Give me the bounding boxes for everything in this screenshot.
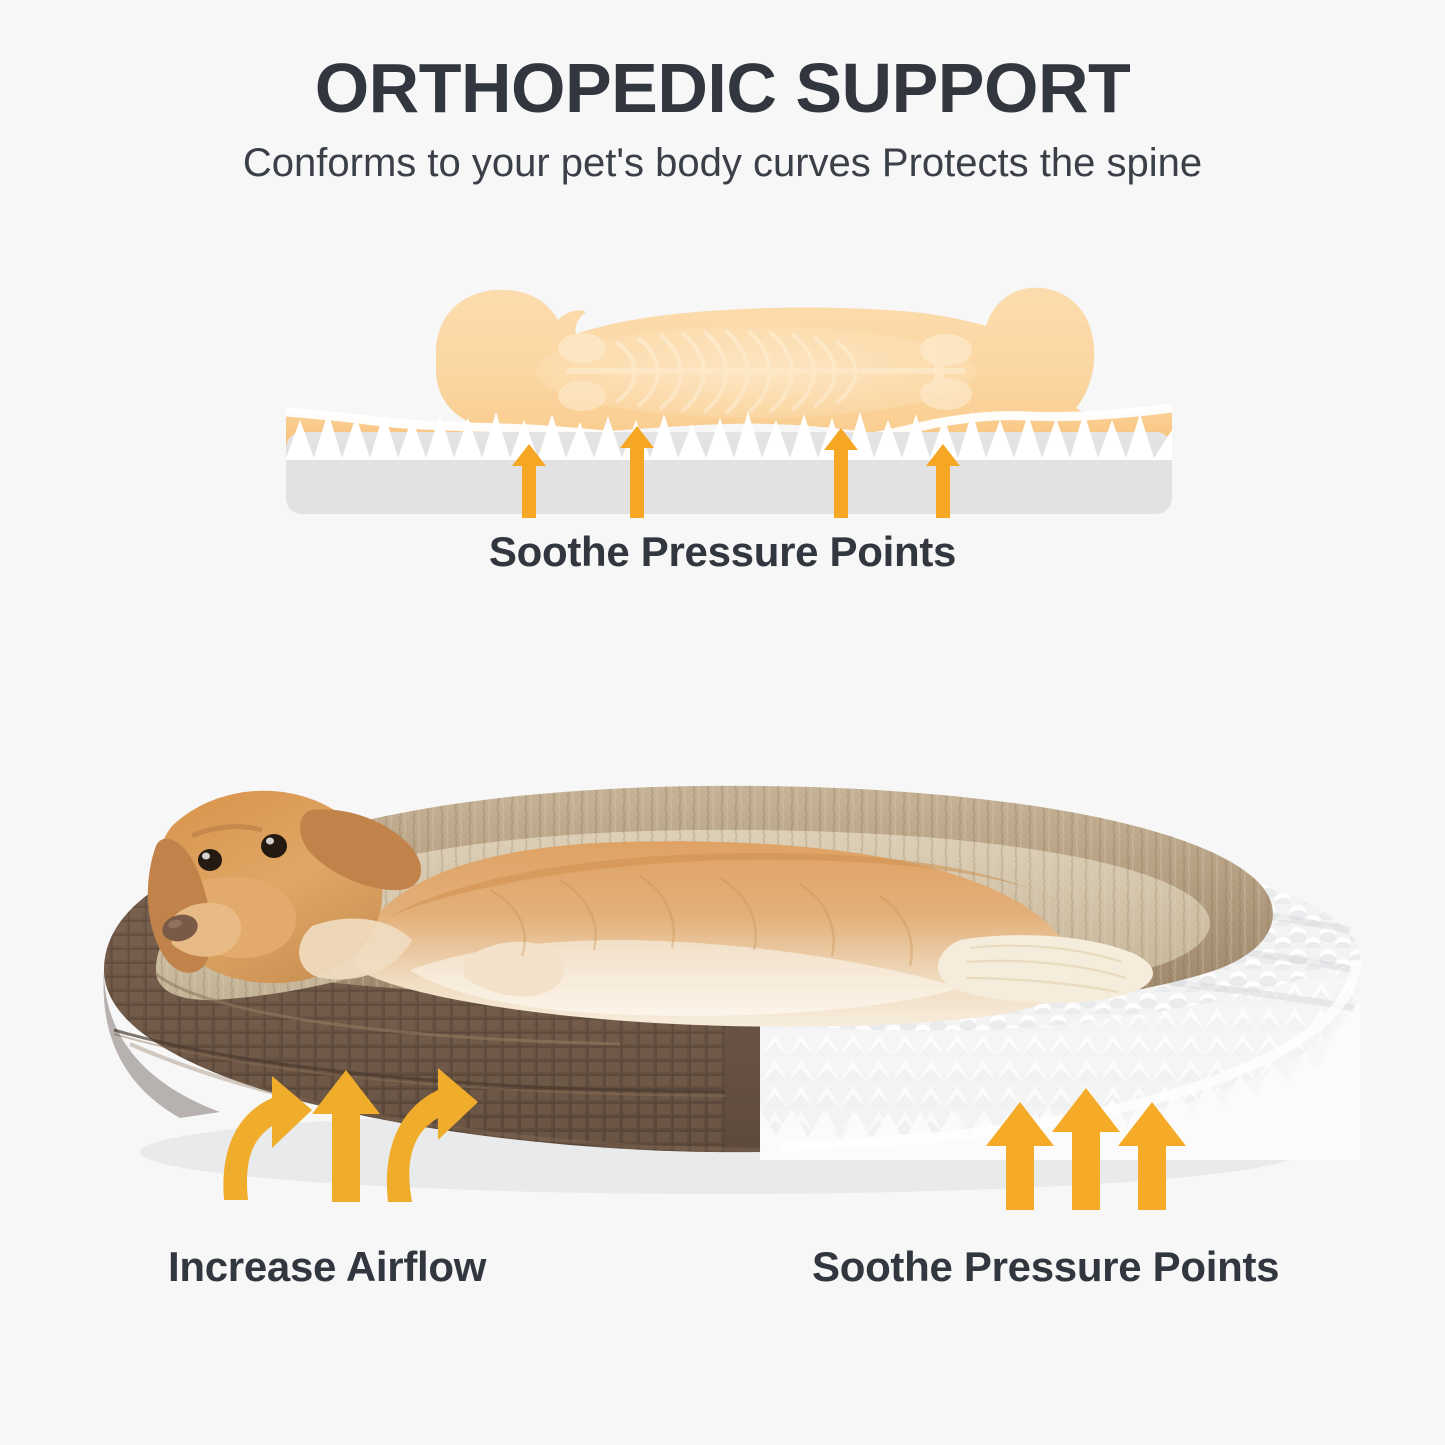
page-subtitle: Conforms to your pet's body curves Prote… [0,125,1445,185]
header-block: ORTHOPEDIC SUPPORT Conforms to your pet'… [0,0,1445,185]
infographic-page: ORTHOPEDIC SUPPORT Conforms to your pet'… [0,0,1445,1445]
dog-eye-left [198,849,222,871]
diagram-caption-soothe-pressure-points: Soothe Pressure Points [0,528,1445,576]
foam-slab-body [286,460,1172,514]
skeleton-icon [536,326,976,418]
page-title: ORTHOPEDIC SUPPORT [0,0,1445,125]
caption-increase-airflow: Increase Airflow [168,1243,486,1291]
dog-eye-right [261,834,287,858]
product-photo [60,640,1390,1240]
foam-cross-section-diagram [286,262,1172,522]
caption-soothe-pressure-points: Soothe Pressure Points [812,1243,1279,1291]
